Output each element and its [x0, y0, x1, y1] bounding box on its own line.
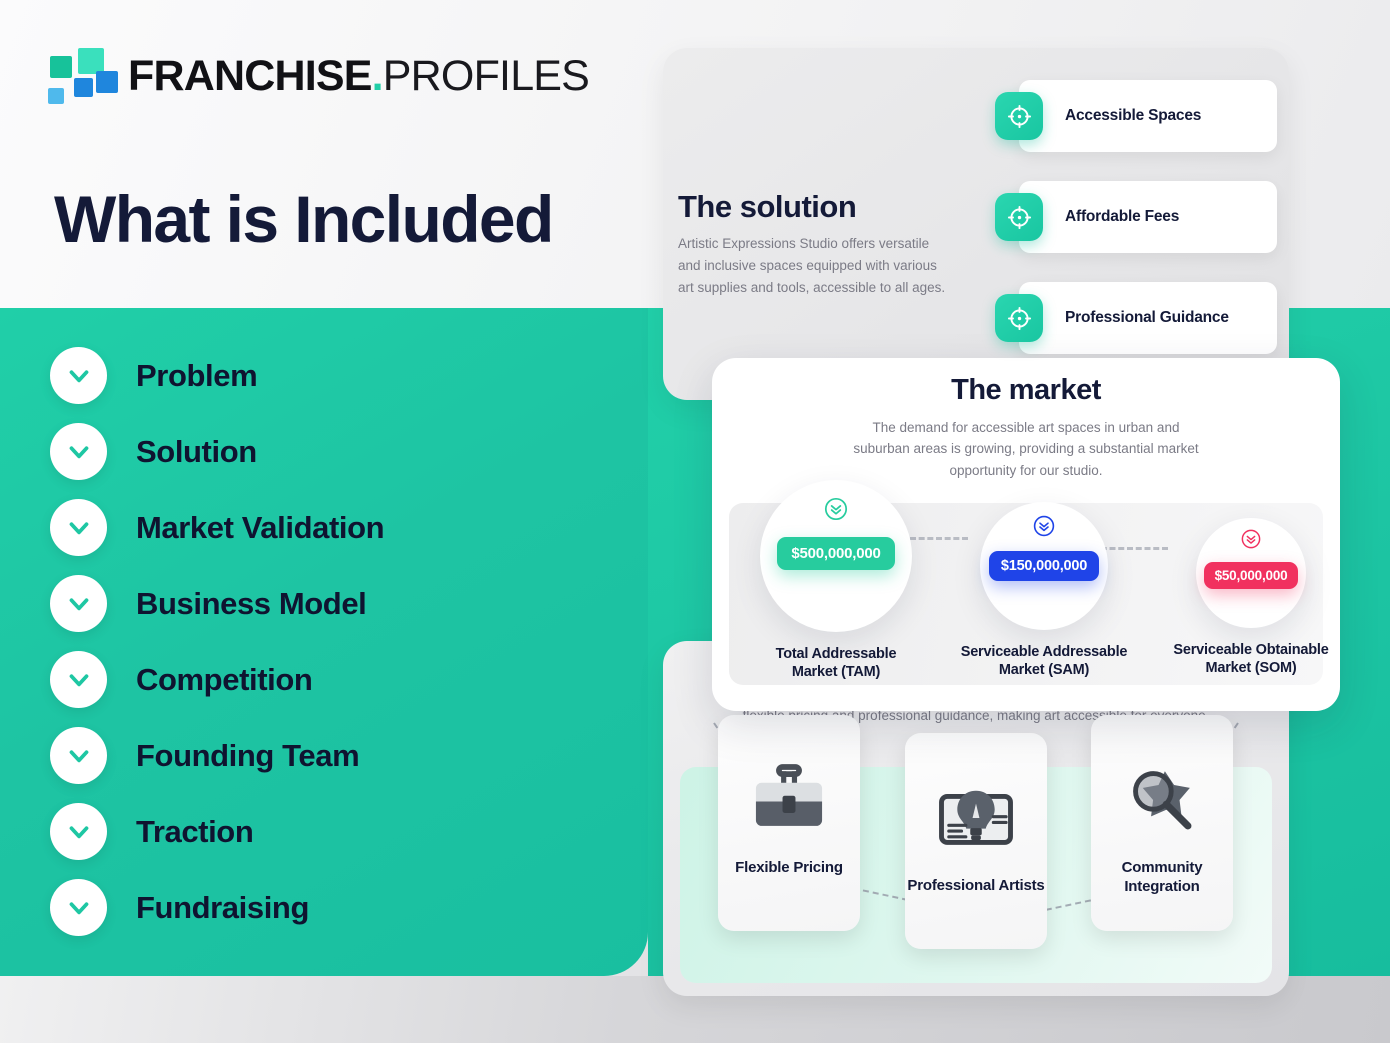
solution-feature-row[interactable]: Professional Guidance [995, 282, 1277, 354]
chevron-down-icon [50, 575, 107, 632]
solution-title: The solution [678, 189, 856, 225]
funnel-bubble-circle: $500,000,000 [760, 480, 912, 632]
list-item-label: Solution [136, 434, 257, 470]
value-card[interactable]: Community Integration [1091, 715, 1233, 931]
funnel-bubble-tam[interactable]: $500,000,000 Total Addressable Market (T… [751, 480, 921, 681]
funnel-caption: Serviceable Addressable Market (SAM) [959, 643, 1129, 679]
solution-feature-label: Professional Guidance [1065, 309, 1229, 327]
chevron-down-icon [50, 803, 107, 860]
list-item-label: Fundraising [136, 890, 309, 926]
list-item[interactable]: Problem [50, 347, 384, 404]
double-chevron-down-icon [823, 496, 849, 527]
funnel-bubble-circle: $150,000,000 [980, 502, 1108, 630]
solution-description: Artistic Expressions Studio offers versa… [678, 233, 950, 299]
double-chevron-down-icon [1240, 528, 1262, 555]
list-item-label: Founding Team [136, 738, 359, 774]
chevron-down-icon [50, 727, 107, 784]
list-item[interactable]: Competition [50, 651, 384, 708]
list-item[interactable]: Market Validation [50, 499, 384, 556]
list-item[interactable]: Traction [50, 803, 384, 860]
list-item[interactable]: Business Model [50, 575, 384, 632]
chevron-down-icon [50, 651, 107, 708]
list-item[interactable]: Founding Team [50, 727, 384, 784]
funnel-bubble-som[interactable]: $50,000,000 Serviceable Obtainable Marke… [1166, 518, 1336, 677]
logo-text-bold: FRANCHISE [128, 52, 372, 100]
crosshair-icon [995, 193, 1043, 241]
funnel-caption: Total Addressable Market (TAM) [751, 645, 921, 681]
funnel-value-badge: $500,000,000 [777, 537, 894, 570]
chevron-down-icon [50, 347, 107, 404]
list-item-label: Traction [136, 814, 253, 850]
included-checklist: Problem Solution Market Validation Busin… [50, 347, 384, 936]
double-chevron-down-icon [1032, 514, 1056, 543]
briefcase-icon [743, 741, 835, 859]
value-card-label: Community Integration [1091, 859, 1233, 897]
logo-text-dot: . [372, 52, 383, 100]
value-card[interactable]: Professional Artists [905, 733, 1047, 949]
solution-feature-plate: Accessible Spaces [1019, 80, 1277, 152]
brand-logo[interactable]: FRANCHISE.PROFILES [48, 48, 589, 104]
solution-feature-plate: Professional Guidance [1019, 282, 1277, 354]
solution-feature-label: Affordable Fees [1065, 208, 1179, 226]
list-item-label: Problem [136, 358, 257, 394]
funnel-bubble-sam[interactable]: $150,000,000 Serviceable Addressable Mar… [959, 502, 1129, 679]
value-card[interactable]: Flexible Pricing [718, 715, 860, 931]
list-item[interactable]: Solution [50, 423, 384, 480]
crosshair-icon [995, 92, 1043, 140]
funnel-value-badge: $150,000,000 [989, 551, 1099, 581]
funnel-caption: Serviceable Obtainable Market (SOM) [1166, 641, 1336, 677]
chevron-down-icon [50, 879, 107, 936]
page-title: What is Included [54, 186, 553, 252]
lightbulb-certificate-icon [930, 759, 1022, 877]
list-item-label: Market Validation [136, 510, 384, 546]
logo-squares-icon [48, 48, 108, 104]
solution-feature-row[interactable]: Accessible Spaces [995, 80, 1277, 152]
logo-wordmark: FRANCHISE.PROFILES [128, 55, 589, 98]
solution-feature-label: Accessible Spaces [1065, 107, 1201, 125]
funnel-value-badge: $50,000,000 [1204, 562, 1299, 589]
slide-root: FRANCHISE.PROFILES What is Included Prob… [0, 0, 1390, 1043]
list-item[interactable]: Fundraising [50, 879, 384, 936]
list-item-label: Business Model [136, 586, 366, 622]
funnel-bubble-circle: $50,000,000 [1196, 518, 1306, 628]
solution-feature-plate: Affordable Fees [1019, 181, 1277, 253]
solution-feature-row[interactable]: Affordable Fees [995, 181, 1277, 253]
value-card-label: Flexible Pricing [735, 859, 843, 878]
badge-magnifier-icon [1116, 741, 1208, 859]
list-item-label: Competition [136, 662, 312, 698]
value-card-label: Professional Artists [907, 877, 1044, 896]
chevron-down-icon [50, 423, 107, 480]
chevron-down-icon [50, 499, 107, 556]
logo-text-light: PROFILES [383, 52, 589, 100]
crosshair-icon [995, 294, 1043, 342]
solution-card: Accessible Spaces Affordable Fees [663, 48, 1289, 400]
market-funnel-chart: $500,000,000 Total Addressable Market (T… [712, 358, 1340, 711]
